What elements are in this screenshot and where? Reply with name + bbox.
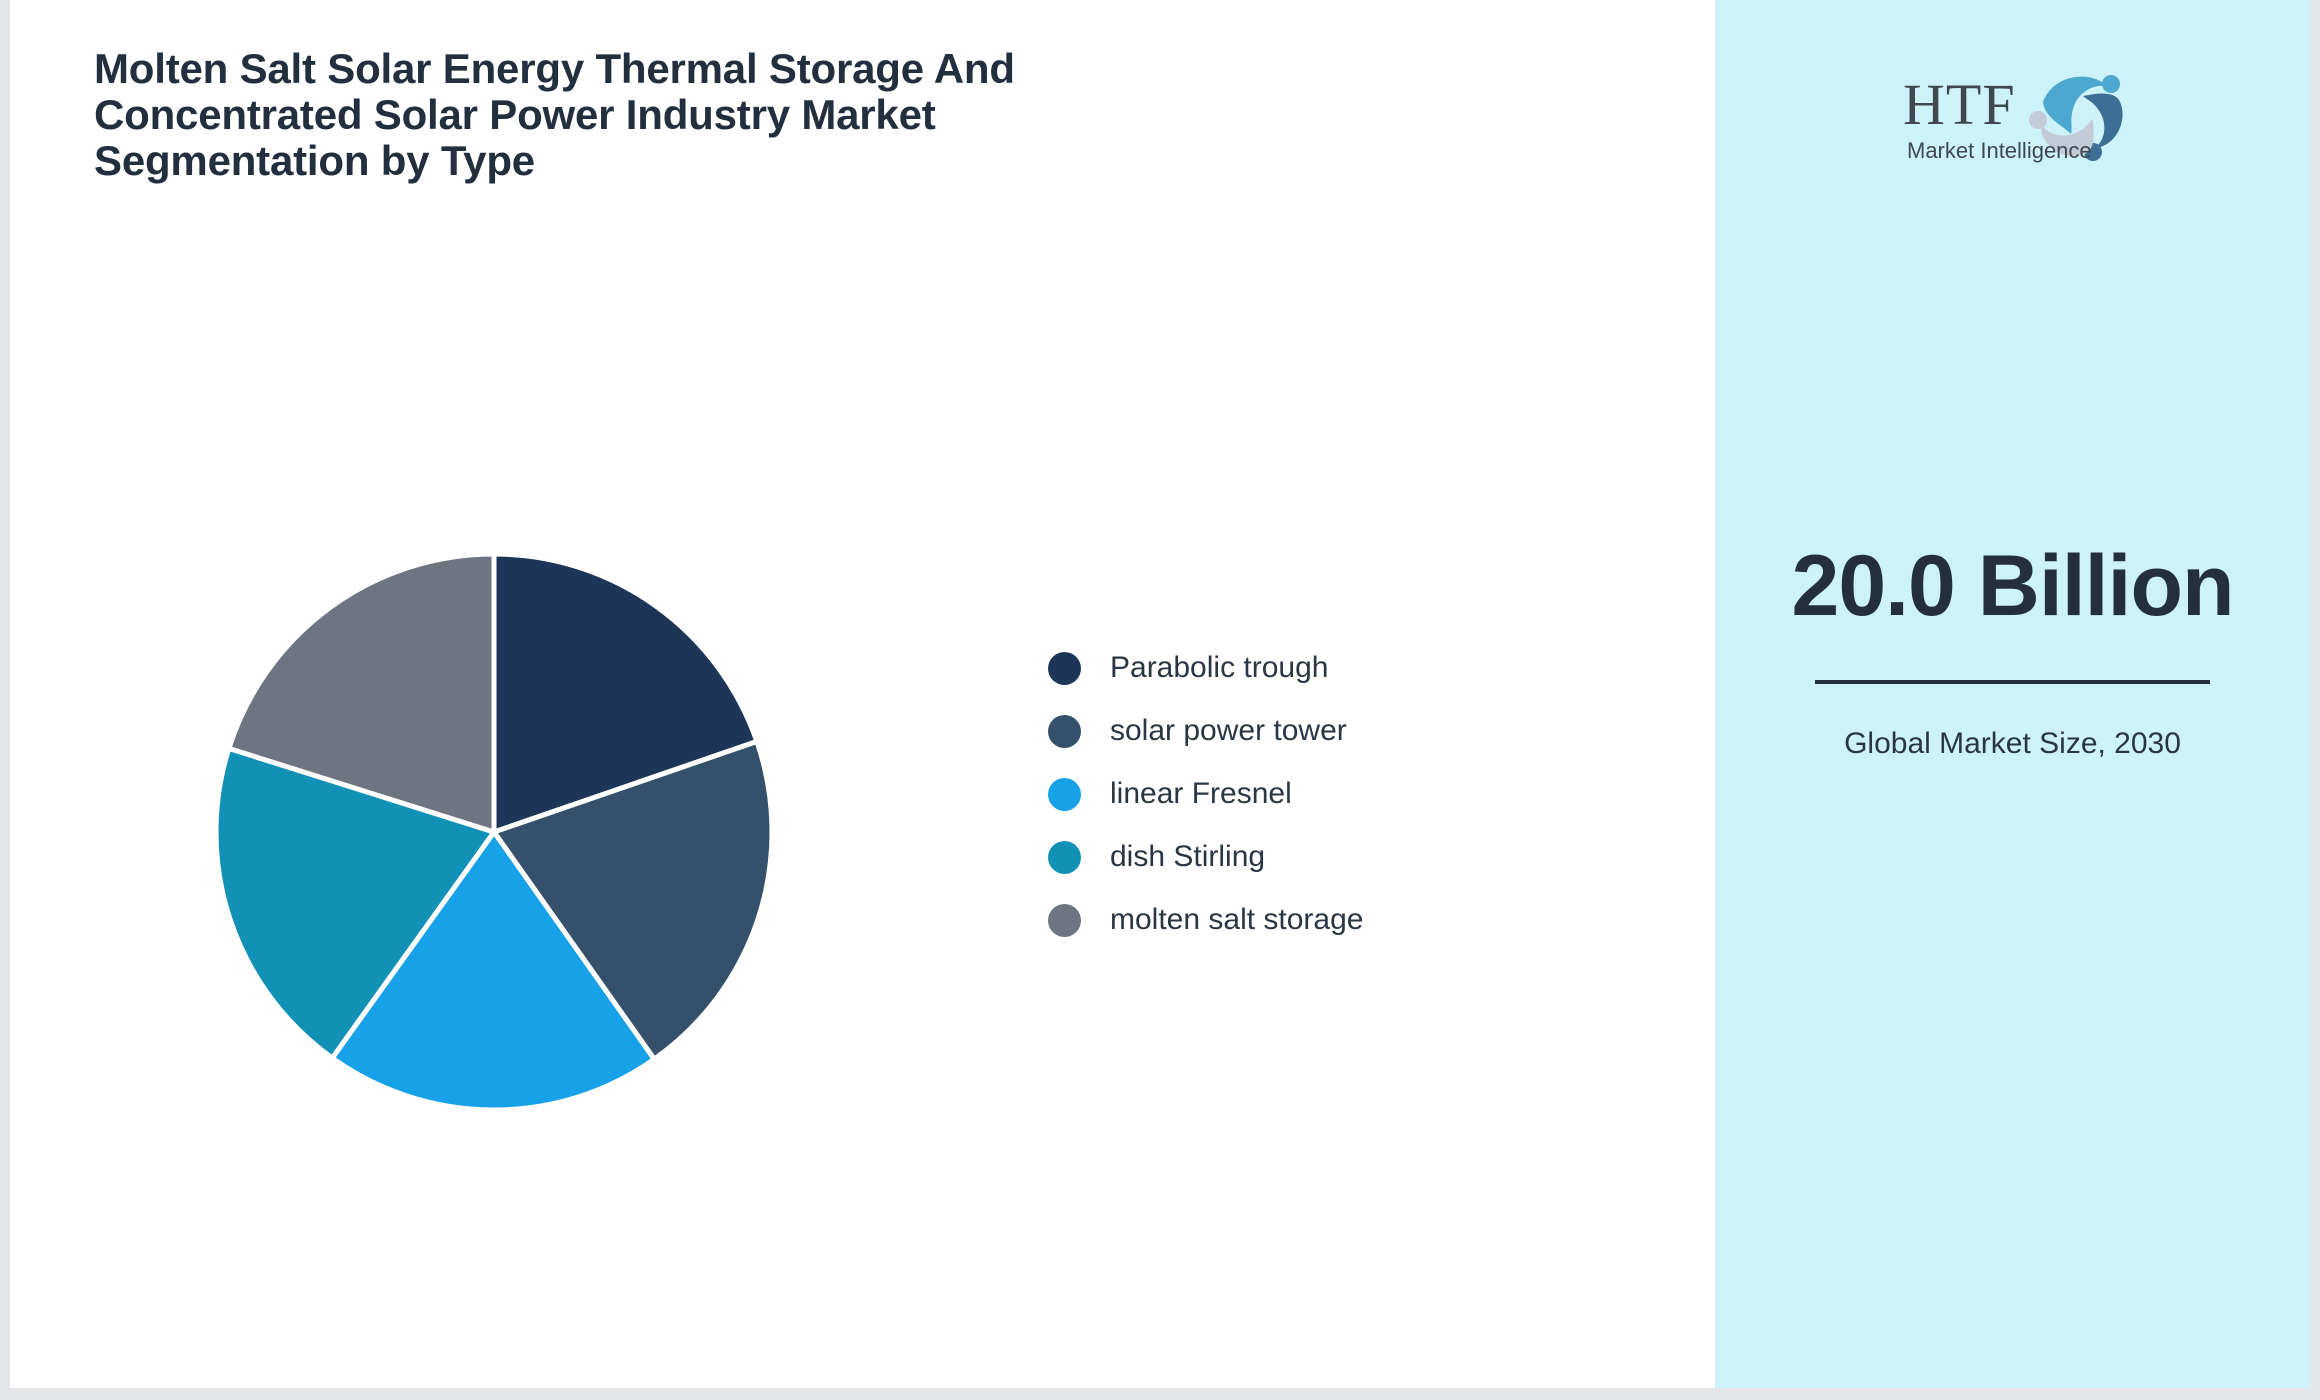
htf-logo-wordmark: HTF	[1903, 72, 2016, 137]
pie-chart-svg	[216, 554, 772, 1110]
legend-item[interactable]: dish Stirling	[1048, 839, 1363, 875]
legend-label: molten salt storage	[1110, 903, 1363, 937]
market-size-value: 20.0 Billion	[1715, 540, 2310, 633]
pie-chart	[216, 554, 772, 1110]
legend-swatch-icon	[1048, 904, 1081, 937]
htf-logo-svg: HTF Market Intelligence	[1893, 62, 2133, 167]
legend-swatch-icon	[1048, 841, 1081, 874]
legend-label: Parabolic trough	[1110, 651, 1328, 685]
stat-divider	[1815, 680, 2210, 684]
legend-label: solar power tower	[1110, 714, 1347, 748]
chart-legend: Parabolic troughsolar power towerlinear …	[1048, 650, 1363, 938]
legend-swatch-icon	[1048, 652, 1081, 685]
legend-label: linear Fresnel	[1110, 777, 1292, 811]
legend-item[interactable]: Parabolic trough	[1048, 650, 1363, 686]
legend-swatch-icon	[1048, 778, 1081, 811]
market-size-stat: 20.0 Billion Global Market Size, 2030	[1715, 540, 2310, 762]
legend-item[interactable]: linear Fresnel	[1048, 776, 1363, 812]
legend-item[interactable]: solar power tower	[1048, 713, 1363, 749]
legend-item[interactable]: molten salt storage	[1048, 902, 1363, 938]
legend-swatch-icon	[1048, 715, 1081, 748]
htf-logo: HTF Market Intelligence	[1893, 62, 2133, 167]
htf-logo-tagline: Market Intelligence	[1907, 138, 2092, 163]
chart-panel: Molten Salt Solar Energy Thermal Storage…	[10, 0, 1715, 1388]
market-size-caption: Global Market Size, 2030	[1715, 726, 2310, 763]
infographic-card: Molten Salt Solar Energy Thermal Storage…	[10, 0, 2310, 1388]
page-title: Molten Salt Solar Energy Thermal Storage…	[94, 46, 1104, 183]
legend-label: dish Stirling	[1110, 840, 1265, 874]
summary-panel: HTF Market Intelligence 20.0 Billion Glo…	[1715, 0, 2310, 1388]
